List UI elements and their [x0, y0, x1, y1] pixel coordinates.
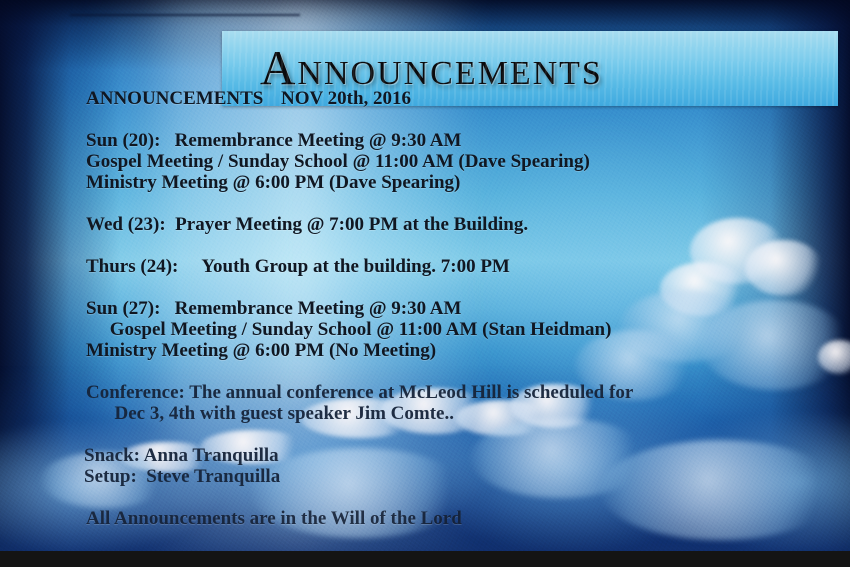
announcement-slide: Announcements ANNOUNCEMENTS NOV 20th, 20…: [0, 0, 850, 567]
line-sun27-header: Sun (27): Remembrance Meeting @ 9:30 AM: [86, 298, 461, 319]
line-wed23-prayer: Wed (23): Prayer Meeting @ 7:00 PM at th…: [86, 214, 528, 235]
line-footer-note: All Announcements are in the Will of the…: [86, 508, 462, 529]
line-snack: Snack: Anna Tranquilla: [84, 445, 279, 466]
line-sun27-gospel: Gospel Meeting / Sunday School @ 11:00 A…: [86, 319, 611, 340]
line-sun20-ministry: Ministry Meeting @ 6:00 PM (Dave Spearin…: [86, 172, 460, 193]
line-sun27-ministry: Ministry Meeting @ 6:00 PM (No Meeting): [86, 340, 436, 361]
line-sun20-header: Sun (20): Remembrance Meeting @ 9:30 AM: [86, 130, 461, 151]
line-setup: Setup: Steve Tranquilla: [84, 466, 280, 487]
line-sun20-gospel: Gospel Meeting / Sunday School @ 11:00 A…: [86, 151, 590, 172]
header-date: NOV 20th, 2016: [281, 88, 411, 109]
header-title: ANNOUNCEMENTS: [86, 88, 263, 109]
bottom-letterbox-bar: [0, 551, 850, 567]
line-conference-1: Conference: The annual conference at McL…: [86, 382, 633, 403]
line-thurs24-youth: Thurs (24): Youth Group at the building.…: [86, 256, 510, 277]
line-conference-2: Dec 3, 4th with guest speaker Jim Comte.…: [86, 403, 454, 424]
slide-content: ANNOUNCEMENTS NOV 20th, 2016 Sun (20): R…: [0, 0, 850, 567]
